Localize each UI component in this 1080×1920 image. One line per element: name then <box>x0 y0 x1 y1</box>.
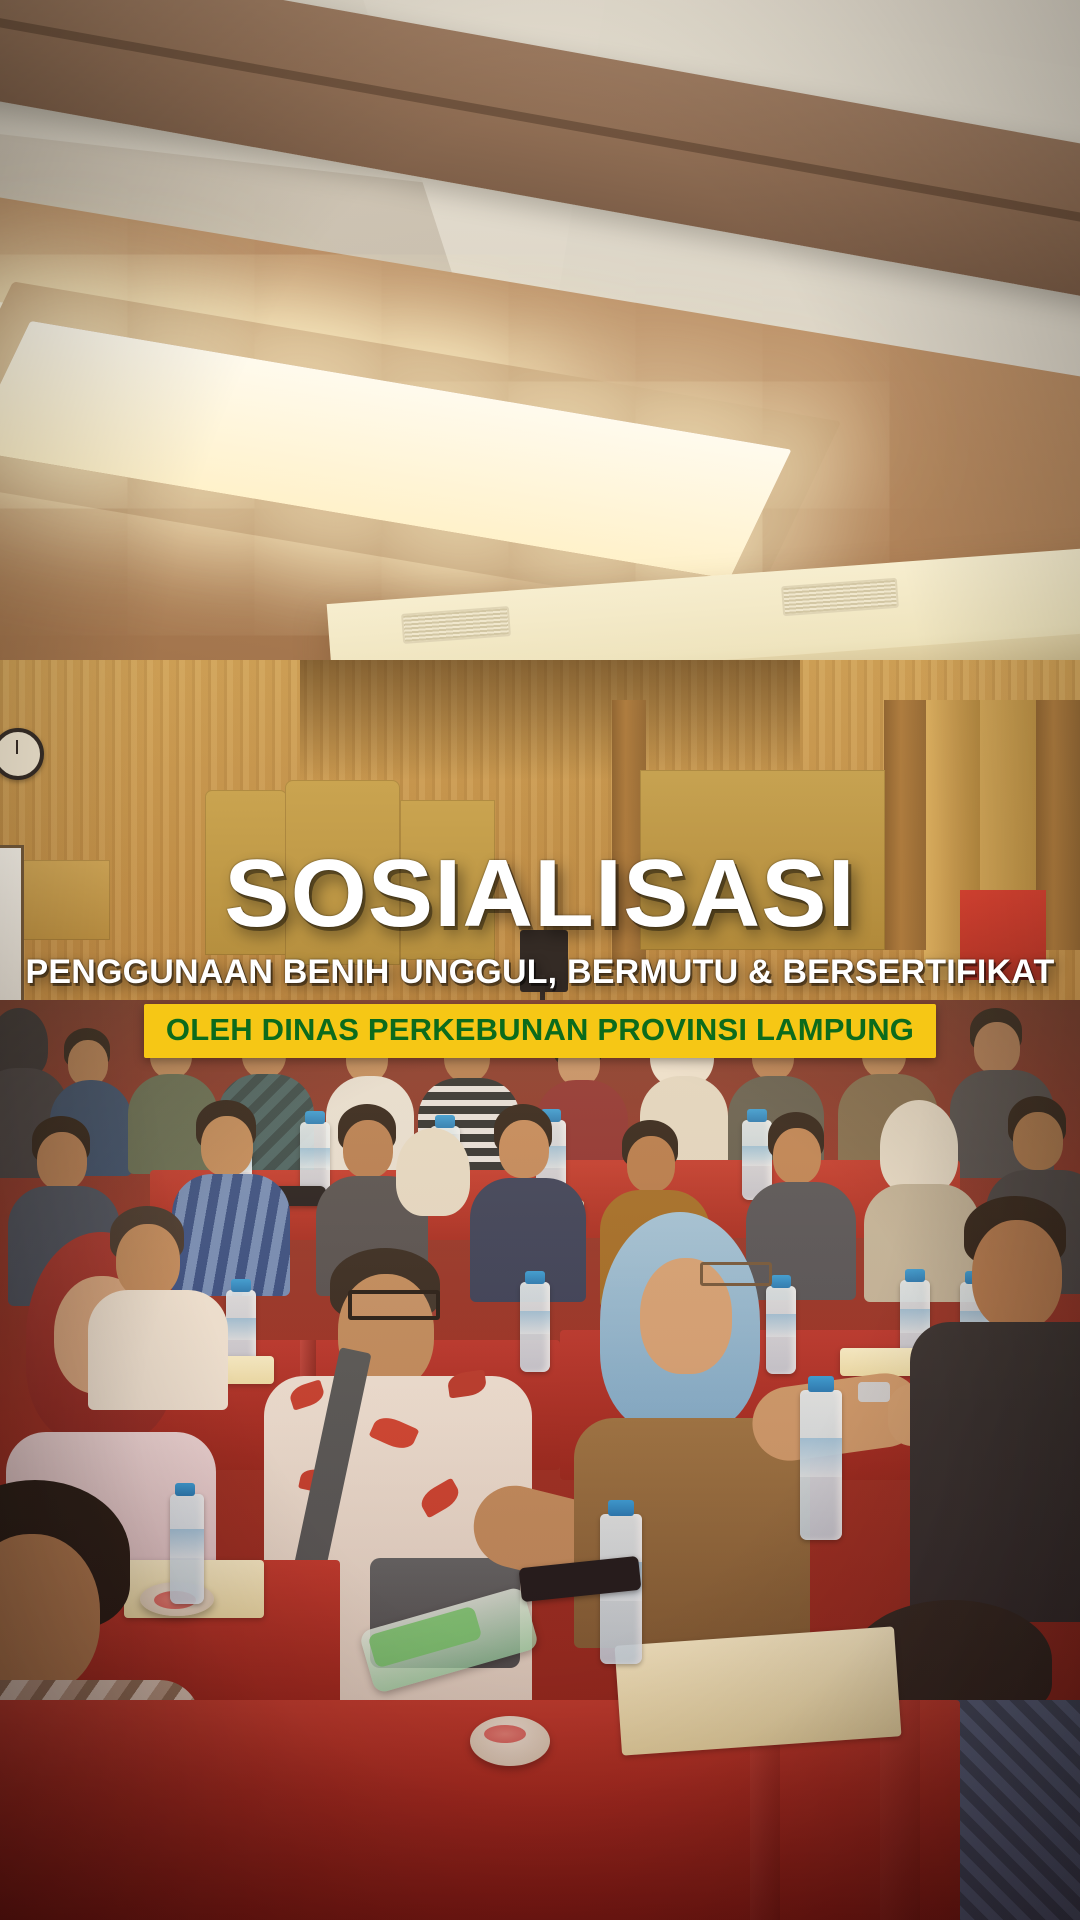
eyeglasses-icon <box>348 1290 440 1320</box>
water-bottle <box>800 1390 842 1540</box>
wall-shadow <box>300 660 800 780</box>
eyeglasses-icon <box>700 1262 772 1286</box>
organizer-badge: OLEH DINAS PERKEBUNAN PROVINSI LAMPUNG <box>144 1004 936 1058</box>
audience-area <box>0 1000 1080 1920</box>
screenshot-root: SOSIALISASI PENGGUNAAN BENIH UNGGUL, BER… <box>0 0 1080 1920</box>
water-bottle <box>520 1282 550 1372</box>
organizer-row: OLEH DINAS PERKEBUNAN PROVINSI LAMPUNG <box>0 1004 1080 1058</box>
water-bottle <box>170 1494 204 1604</box>
document-folder <box>615 1626 902 1755</box>
water-bottle <box>766 1286 796 1374</box>
page-title: SOSIALISASI <box>0 845 1080 943</box>
title-overlay: SOSIALISASI PENGGUNAAN BENIH UNGGUL, BER… <box>0 845 1080 1058</box>
snack-bowl <box>470 1716 550 1766</box>
subtitle: PENGGUNAAN BENIH UNGGUL, BERMUTU & BERSE… <box>0 953 1080 992</box>
wristwatch-icon <box>858 1382 890 1402</box>
